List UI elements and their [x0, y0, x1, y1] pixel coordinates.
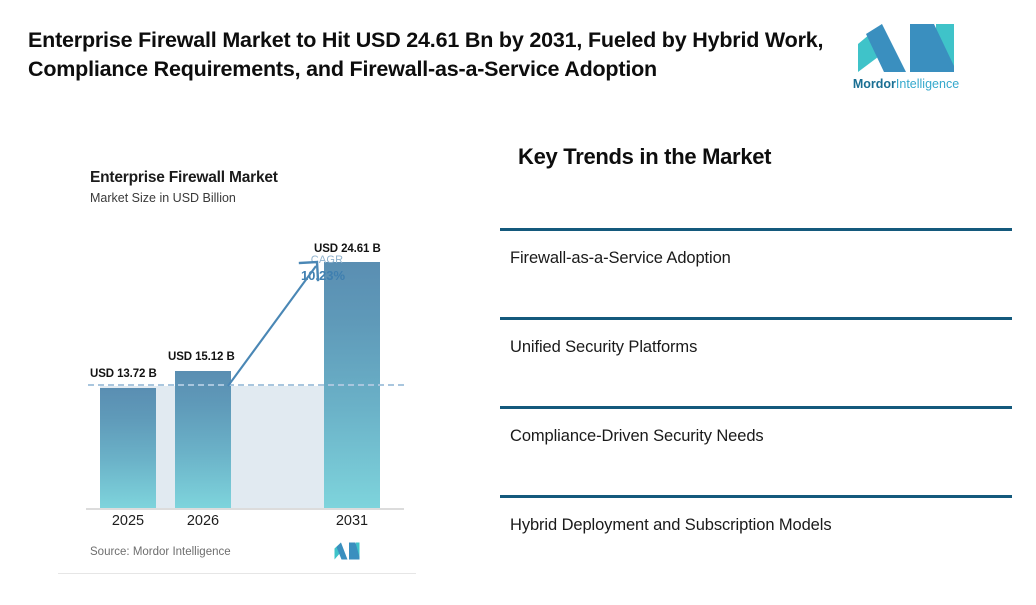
- mordor-intelligence-logo: MordorIntelligence: [850, 22, 962, 100]
- bar-2025: [100, 388, 156, 508]
- trend-item: Firewall-as-a-Service Adoption: [500, 228, 1012, 317]
- trend-item-label: Compliance-Driven Security Needs: [510, 427, 764, 446]
- brand-name-bold: Mordor: [853, 77, 896, 91]
- page-header: Enterprise Firewall Market to Hit USD 24…: [0, 0, 1036, 125]
- bar-value-2025: USD 13.72 B: [90, 368, 157, 380]
- x-axis-baseline: [86, 508, 404, 510]
- trend-item: Hybrid Deployment and Subscription Model…: [500, 495, 1012, 584]
- trend-item-label: Unified Security Platforms: [510, 338, 697, 357]
- key-trends-heading: Key Trends in the Market: [518, 144, 771, 170]
- mordor-logo-mark: [856, 22, 956, 74]
- trend-item: Unified Security Platforms: [500, 317, 1012, 406]
- bar-value-2026: USD 15.12 B: [168, 351, 235, 363]
- cagr-value: 10.23%: [292, 268, 354, 283]
- x-tick-2026: 2026: [163, 513, 243, 529]
- cagr-label: CAGR: [296, 254, 358, 266]
- x-tick-2031: 2031: [312, 513, 392, 529]
- trend-item-label: Hybrid Deployment and Subscription Model…: [510, 516, 831, 535]
- trend-item: Compliance-Driven Security Needs: [500, 406, 1012, 495]
- bar-chart-plot: USD 13.72 B USD 15.12 B USD 24.61 B CAGR…: [58, 150, 416, 574]
- x-tick-2025: 2025: [88, 513, 168, 529]
- bar-2026-fill: [175, 371, 231, 508]
- mordor-source-logo-icon: [334, 542, 360, 560]
- chart-card: Enterprise Firewall Market Market Size i…: [58, 150, 416, 574]
- page-title: Enterprise Firewall Market to Hit USD 24…: [28, 26, 836, 84]
- reference-dashed-line: [88, 384, 404, 386]
- bar-2026: [175, 371, 231, 508]
- key-trends-list: Firewall-as-a-Service Adoption Unified S…: [500, 228, 1012, 584]
- chart-source: Source: Mordor Intelligence: [90, 546, 231, 558]
- bar-2025-fill: [100, 388, 156, 508]
- brand-name-light: Intelligence: [896, 77, 959, 91]
- key-trends-panel: Key Trends in the Market Firewall-as-a-S…: [500, 140, 1012, 560]
- mordor-logo-wordmark: MordorIntelligence: [850, 77, 962, 91]
- trend-item-label: Firewall-as-a-Service Adoption: [510, 249, 731, 268]
